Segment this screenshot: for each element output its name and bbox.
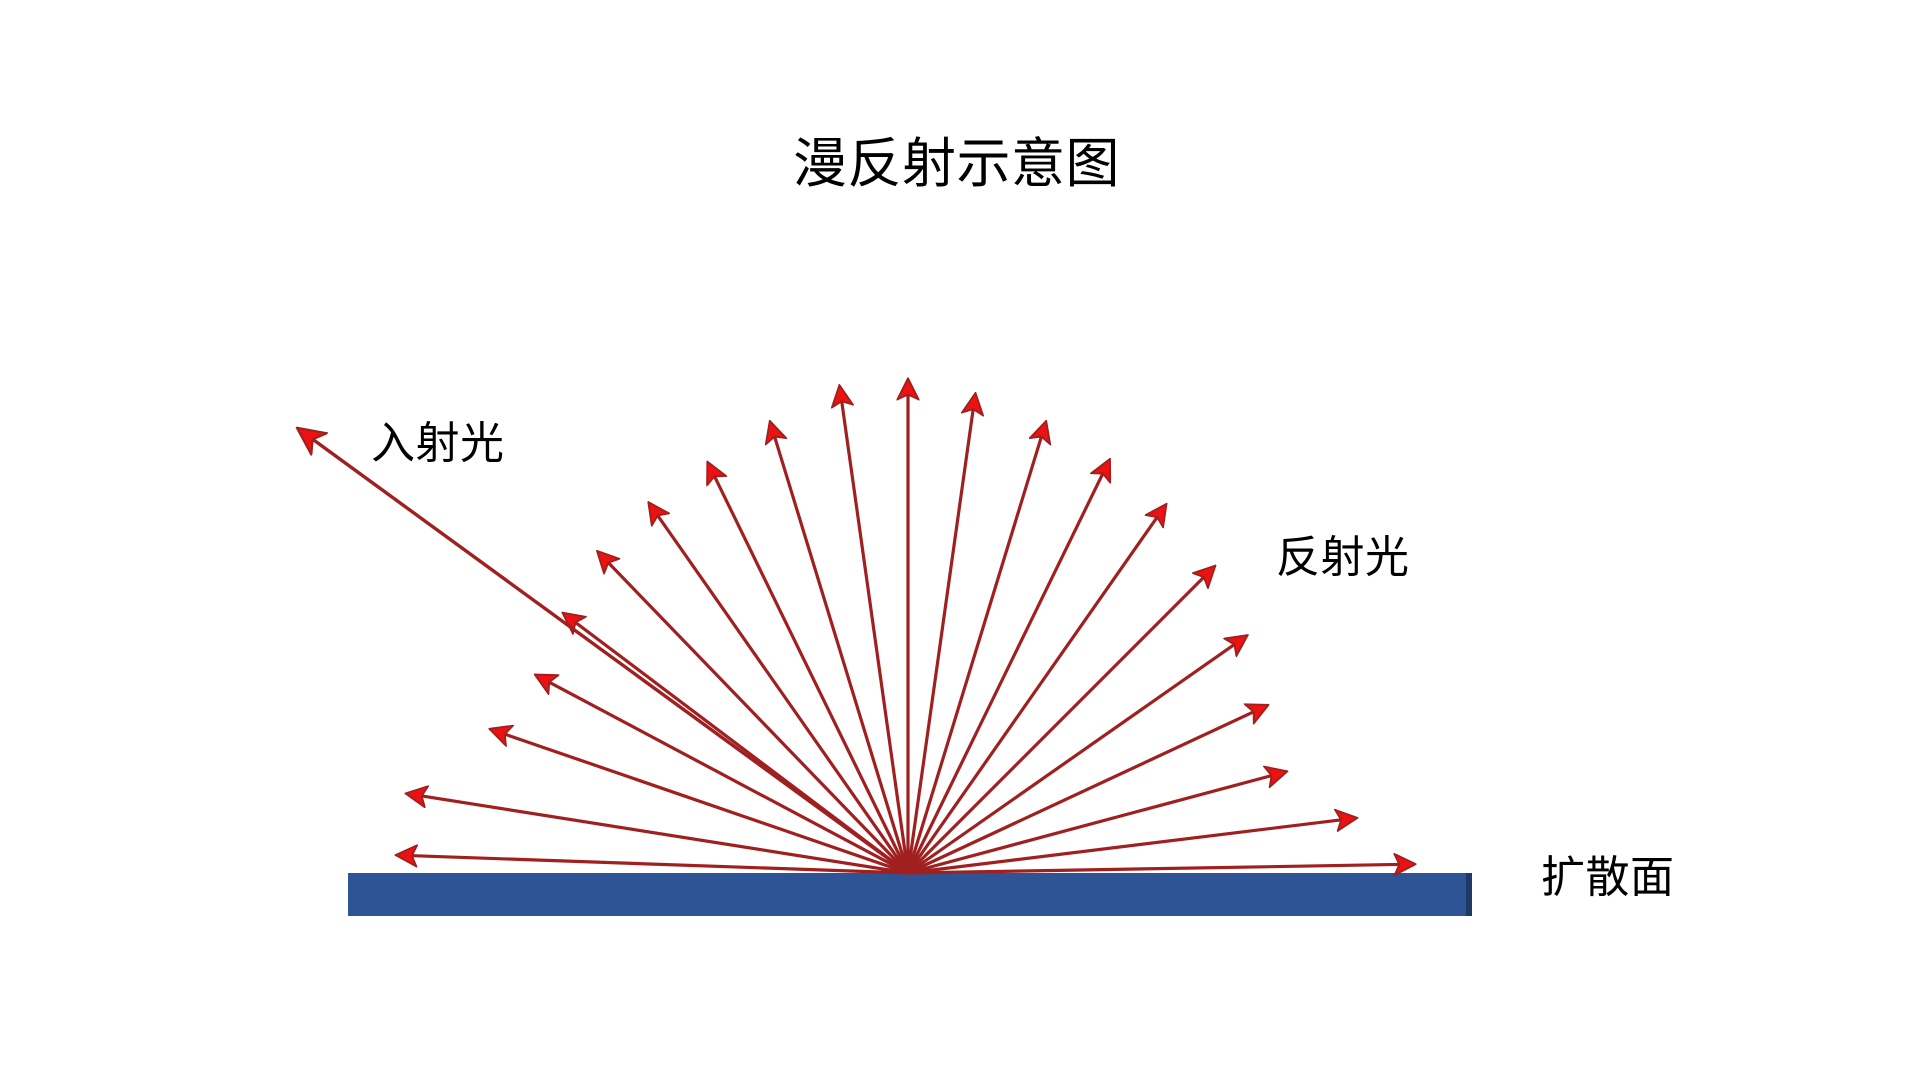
page-title: 漫反射示意图 — [793, 136, 1120, 193]
reflected-ray — [650, 504, 908, 873]
reflected-ray — [908, 706, 1266, 873]
reflected-ray — [398, 855, 908, 873]
diffuse-surface-bar — [348, 873, 1472, 916]
incident-ray-label: 入射光 — [371, 421, 505, 467]
reflected-ray — [599, 553, 908, 873]
reflected-ray-fan — [398, 381, 1413, 873]
reflected-ray — [908, 864, 1413, 873]
reflected-ray-label: 反射光 — [1276, 535, 1410, 581]
reflected-ray — [492, 730, 908, 873]
slide-canvas: 漫反射示意图 入射光 反射光 扩散面 — [0, 0, 1920, 1080]
reflected-ray — [908, 506, 1165, 873]
reflected-ray — [771, 424, 908, 873]
incident-ray — [300, 430, 908, 873]
reflected-ray — [908, 772, 1285, 873]
diffuse-surface-label: 扩散面 — [1541, 855, 1675, 901]
